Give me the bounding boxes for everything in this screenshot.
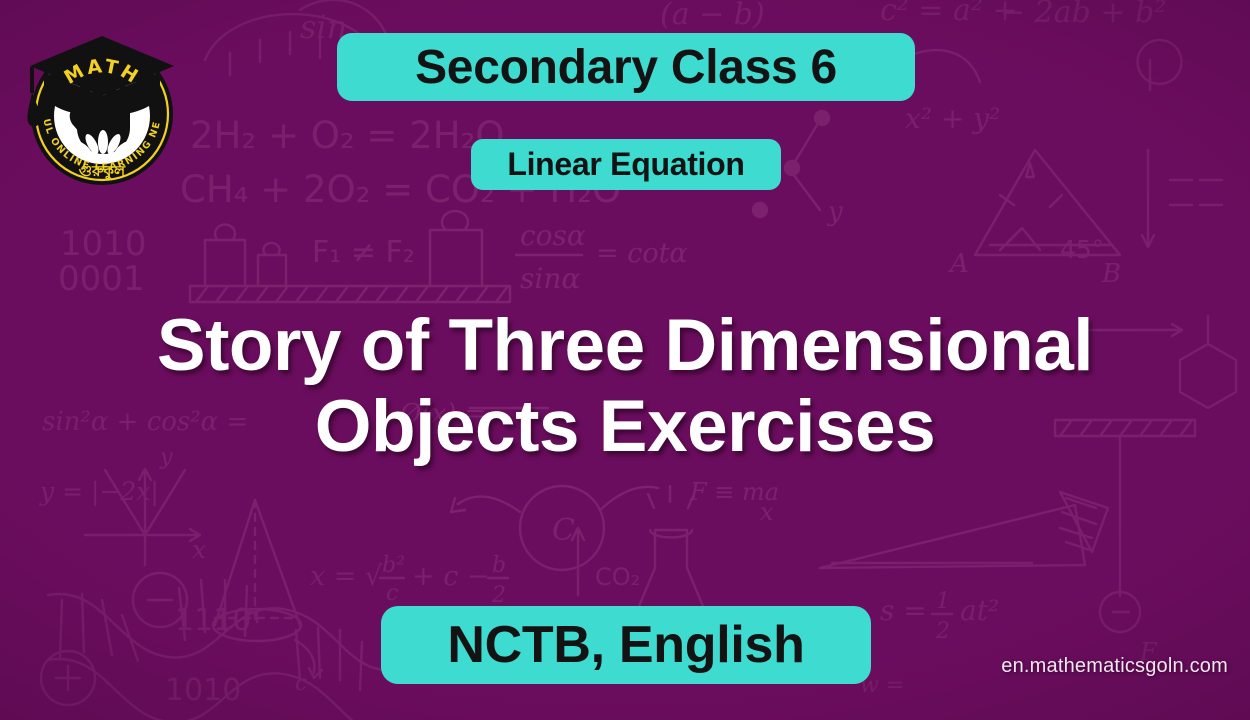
- svg-text:x = √: x = √: [310, 561, 383, 592]
- svg-text:F₁ ≠ F₂: F₁ ≠ F₂: [312, 235, 415, 270]
- badge-source: NCTB, English: [381, 606, 871, 684]
- svg-text:x: x: [760, 498, 774, 526]
- svg-text:s =: s =: [880, 594, 927, 627]
- svg-text:+ c −: + c −: [412, 561, 490, 592]
- thumbnail-canvas: 1010 0001 1110 1010 2H₂ + O₂ = 2H₂O CH₄ …: [0, 0, 1250, 720]
- svg-text:− 2ab + b²: − 2ab + b²: [1000, 0, 1166, 30]
- svg-text:at²: at²: [960, 594, 999, 627]
- svg-text:45°: 45°: [1060, 235, 1104, 264]
- svg-text:1: 1: [936, 589, 950, 614]
- svg-text:C: C: [552, 513, 575, 548]
- svg-text:1010: 1010: [165, 673, 241, 708]
- svg-text:2H₂ + O₂ = 2H₂O: 2H₂ + O₂ = 2H₂O: [190, 114, 505, 157]
- page-title: Story of Three Dimensional Objects Exerc…: [0, 305, 1250, 467]
- svg-text:y = |−2x|: y = |−2x|: [39, 477, 159, 507]
- svg-text:2: 2: [491, 583, 506, 608]
- svg-text:2: 2: [935, 619, 950, 644]
- svg-text:= cotα: = cotα: [596, 238, 688, 269]
- svg-text:x² + y²: x² + y²: [905, 102, 1000, 135]
- svg-text:b: b: [492, 553, 506, 578]
- badge-topic: Linear Equation: [471, 139, 781, 190]
- svg-text:sinα: sinα: [520, 262, 580, 295]
- svg-text:y: y: [827, 197, 843, 227]
- svg-text:cosα: cosα: [520, 219, 586, 252]
- svg-text:(a − b): (a − b): [660, 0, 765, 32]
- badge-class: Secondary Class 6: [337, 33, 915, 101]
- svg-text:B: B: [1101, 259, 1121, 289]
- svg-text:A: A: [948, 249, 969, 279]
- page-title-line-1: Story of Three Dimensional: [0, 305, 1250, 386]
- logo-bangla-text: গুরুকুল: [79, 162, 126, 181]
- svg-text:1110: 1110: [175, 603, 251, 638]
- svg-text:CO₂: CO₂: [595, 563, 640, 591]
- page-title-line-2: Objects Exercises: [0, 386, 1250, 467]
- svg-text:b²: b²: [382, 553, 405, 578]
- site-logo: MATH GURUKUL ONLINE LEARNING NETWORK: [14, 18, 182, 193]
- site-url: en.mathematicsgoln.com: [1001, 655, 1228, 678]
- svg-text:F ≡ ma: F ≡ ma: [689, 478, 779, 506]
- svg-text:c² = a² +: c² = a² +: [880, 0, 1018, 28]
- svg-text:0001: 0001: [58, 259, 145, 299]
- svg-text:c: c: [295, 671, 307, 696]
- svg-text:1010: 1010: [60, 224, 147, 264]
- svg-text:c: c: [386, 581, 398, 606]
- svg-text:x: x: [192, 535, 206, 564]
